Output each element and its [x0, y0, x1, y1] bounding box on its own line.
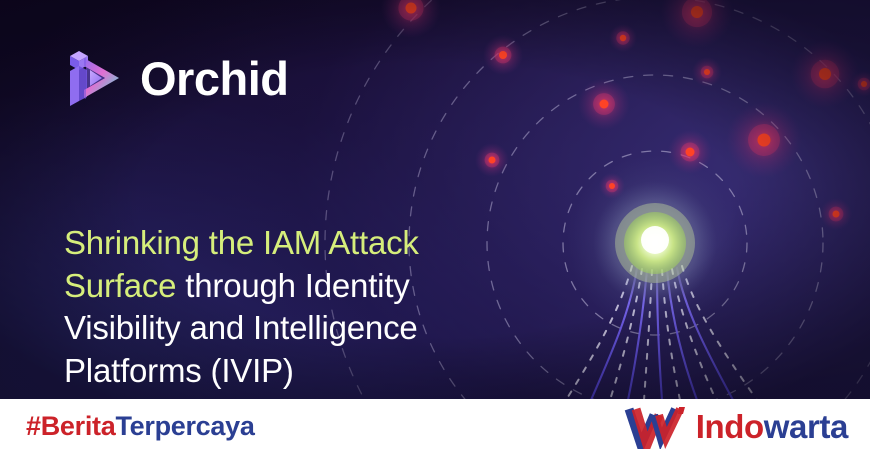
orchid-wordmark: Orchid — [140, 55, 288, 102]
brand-prefix: Indo — [696, 408, 764, 445]
indowarta-wordmark: Indowarta — [696, 408, 848, 446]
brand-suffix: warta — [764, 408, 848, 445]
orchid-logo[interactable]: Orchid — [62, 45, 288, 111]
hashtag-suffix: Terpercaya — [115, 411, 254, 441]
hashtag-label: #BeritaTerpercaya — [26, 411, 255, 442]
indowarta-w-icon — [621, 405, 687, 449]
headline: Shrinking the IAM Attack Surface through… — [64, 222, 534, 392]
hero-artwork: Orchid Shrinking the IAM Attack Surface … — [0, 0, 870, 400]
hashtag-prefix: #Berita — [26, 411, 115, 441]
orchid-play-triangle-icon — [62, 45, 124, 111]
banner-root: Orchid Shrinking the IAM Attack Surface … — [0, 0, 870, 454]
indowarta-logo[interactable]: Indowarta — [621, 405, 848, 449]
bottom-bar: #BeritaTerpercaya Indowarta — [0, 399, 870, 454]
